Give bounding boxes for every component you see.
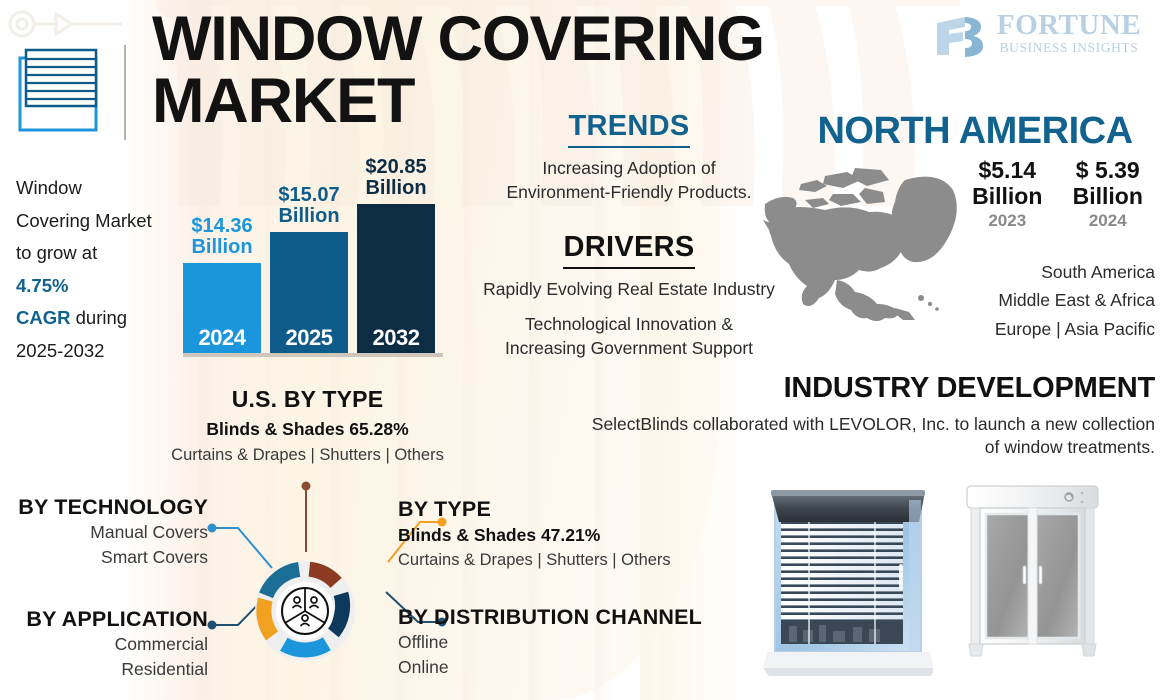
chart-baseline [183,353,443,357]
bar-value-2024: $14.36 [191,215,252,237]
drivers-item-2: Technological Innovation & Increasing Go… [458,313,800,361]
market-size-bar-chart: $14.36 Billion 2024 $15.07 Billion 2025 … [183,185,443,357]
trends-text-line2: Environment-Friendly Products. [506,182,751,202]
by-distribution-channel-heading: BY DISTRIBUTION CHANNEL [398,605,728,630]
bar-label-2032: $20.85 Billion [357,157,435,199]
logo-subtitle: BUSINESS INSIGHTS [993,41,1145,56]
na-value-2023: $5.14 Billion 2023 [960,158,1055,231]
by-technology-item-1: Manual Covers [0,520,208,545]
cagr-period: 2025-2032 [16,340,104,361]
bar-group-2025: $15.07 Billion 2025 [270,185,348,353]
north-america-values: $5.14 Billion 2023 $ 5.39 Billion 2024 [960,158,1155,231]
north-america-title: NORTH AMERICA [795,110,1155,153]
bar-group-2032: $20.85 Billion 2032 [357,157,435,353]
segment-by-technology: BY TECHNOLOGY Manual Covers Smart Covers [0,495,208,571]
trends-heading: TRENDS [568,110,689,148]
industry-development-line2: of window treatments. [985,437,1155,457]
header-divider [124,45,126,140]
industry-development-line1: SelectBlinds collaborated with LEVOLOR, … [592,414,1155,434]
window-blinds-icon [14,42,106,138]
bar-year-2024: 2024 [183,325,261,351]
drivers-heading: DRIVERS [563,231,694,269]
us-by-type-others: Curtains & Drapes | Shutters | Others [135,446,480,465]
bar-year-2025: 2025 [270,325,348,351]
by-application-item-2: Residential [0,657,208,682]
by-distribution-channel-item-1: Offline [398,630,728,655]
cagr-during: during [70,307,127,328]
by-type-heading: BY TYPE [398,497,728,522]
by-distribution-channel-item-2: Online [398,655,728,680]
by-application-item-1: Commercial [0,632,208,657]
fb-logo-mark-icon [935,15,987,57]
white-framed-window-photo [965,478,1100,668]
cagr-statement: Window Covering Market to grow at 4.75% … [16,172,186,367]
cagr-line2: Covering Market [16,210,152,231]
bar-value-2025: $15.07 [278,184,339,206]
bar-unit-2025: Billion [278,205,339,227]
na-unit-2023: Billion [960,184,1055,210]
na-amount-2023: $5.14 [960,158,1055,184]
fortune-business-insights-logo: FORTUNE BUSINESS INSIGHTS [935,11,1145,63]
na-year-2023: 2023 [960,211,1055,231]
na-unit-2024: Billion [1061,184,1156,210]
other-regions-list: South America Middle East & Africa Europ… [860,258,1155,343]
industry-development-text: SelectBlinds collaborated with LEVOLOR, … [555,413,1155,460]
na-amount-2024: $ 5.39 [1061,158,1156,184]
segment-by-distribution-channel: BY DISTRIBUTION CHANNEL Offline Online [398,605,728,681]
drivers-item2-line1: Technological Innovation & [525,314,733,334]
trends-drivers-block: TRENDS Increasing Adoption of Environmen… [458,110,800,361]
by-technology-heading: BY TECHNOLOGY [0,495,208,520]
industry-development-block: INDUSTRY DEVELOPMENT SelectBlinds collab… [555,372,1155,460]
bar-label-2025: $15.07 Billion [270,185,348,227]
infographic-page: WINDOW COVERING MARKET FORTUNE BUSINESS … [0,0,1160,700]
bar-year-2032: 2032 [357,325,435,351]
region-europe-asia-pacific: Europe | Asia Pacific [860,315,1155,343]
bar-label-2024: $14.36 Billion [183,216,261,258]
trends-text-line1: Increasing Adoption of [542,158,715,178]
cagr-line3: to grow at [16,242,97,263]
bar-unit-2032: Billion [365,177,426,199]
segment-by-type: BY TYPE Blinds & Shades 47.21% Curtains … [398,497,728,570]
by-application-heading: BY APPLICATION [0,607,208,632]
bar-2032: 2032 [357,204,435,353]
segment-by-application: BY APPLICATION Commercial Residential [0,607,208,683]
cagr-word: CAGR [16,307,70,328]
na-year-2024: 2024 [1061,211,1156,231]
cagr-line1: Window [16,177,82,198]
trends-text: Increasing Adoption of Environment-Frien… [458,157,800,205]
us-by-type-leader: Blinds & Shades 65.28% [135,419,480,440]
industry-development-heading: INDUSTRY DEVELOPMENT [555,372,1155,405]
us-by-type-block: U.S. BY TYPE Blinds & Shades 65.28% Curt… [135,386,480,465]
region-south-america: South America [860,258,1155,286]
us-by-type-heading: U.S. BY TYPE [135,386,480,413]
bar-value-2032: $20.85 [365,156,426,178]
drivers-item-1: Rapidly Evolving Real Estate Industry [458,278,800,302]
by-type-others: Curtains & Drapes | Shutters | Others [398,551,728,570]
na-value-2024: $ 5.39 Billion 2024 [1061,158,1156,231]
by-technology-item-2: Smart Covers [0,545,208,570]
by-type-leader: Blinds & Shades 47.21% [398,525,728,546]
region-middle-east-africa: Middle East & Africa [860,286,1155,314]
cagr-rate: 4.75% [16,275,68,296]
drivers-item2-line2: Increasing Government Support [505,338,753,358]
segmentation-donut-icon [252,558,358,664]
bar-group-2024: $14.36 Billion 2024 [183,216,261,353]
bar-2024: 2024 [183,263,261,353]
window-with-blinds-photo [763,478,933,683]
bar-2025: 2025 [270,232,348,353]
page-title-line1: WINDOW COVERING [152,8,852,70]
logo-name: FORTUNE [993,11,1145,41]
bar-unit-2024: Billion [191,236,252,258]
